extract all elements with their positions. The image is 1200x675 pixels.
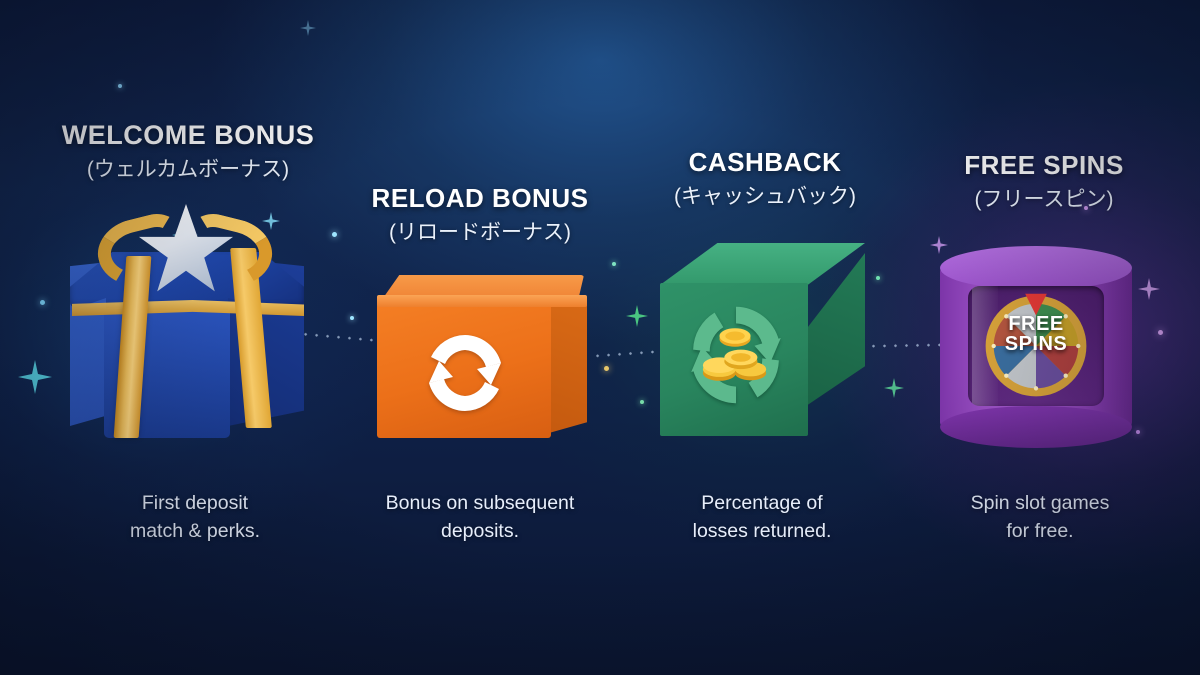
column-reload-bonus: RELOAD BONUS (リロードボーナス) — [330, 183, 630, 246]
connector-line-1-2 — [300, 332, 384, 342]
sparkle-icon — [1138, 278, 1160, 300]
sparkle-dot-icon — [604, 366, 609, 371]
reload-box-lip — [377, 295, 587, 307]
sparkle-dot-icon — [640, 400, 644, 404]
sparkle-dot-icon — [876, 276, 880, 280]
sparkle-dot-icon — [612, 262, 616, 266]
sparkle-dot-icon — [118, 84, 122, 88]
caption-welcome-bonus: First deposit match & perks. — [45, 490, 345, 545]
cylinder-top-cap — [940, 246, 1132, 290]
column-free-spins: FREE SPINS (フリースピン) — [894, 150, 1194, 213]
sparkle-dot-icon — [1136, 430, 1140, 434]
subtitle-free-spins: (フリースピン) — [894, 183, 1194, 213]
reload-box-icon — [375, 275, 590, 440]
gift-body-left — [70, 298, 106, 426]
sparkle-dot-icon — [1158, 330, 1163, 335]
cube-top — [660, 243, 865, 285]
subtitle-cashback: (キャッシュバック) — [615, 180, 915, 210]
title-free-spins: FREE SPINS — [894, 150, 1194, 181]
reload-box-side — [549, 299, 587, 433]
title-welcome-bonus: WELCOME BONUS — [38, 120, 338, 151]
sparkle-icon — [300, 20, 316, 36]
connector-line-2-3 — [592, 349, 670, 357]
cylinder-window: FREE SPINS — [968, 286, 1104, 406]
caption-free-spins: Spin slot games for free. — [890, 490, 1190, 545]
caption-reload-bonus: Bonus on subsequent deposits. — [330, 490, 630, 545]
subtitle-reload-bonus: (リロードボーナス) — [330, 216, 630, 246]
column-cashback: CASHBACK (キャッシュバック) — [615, 147, 915, 210]
sparkle-dot-icon — [350, 316, 354, 320]
subtitle-welcome-bonus: (ウェルカムボーナス) — [38, 153, 338, 183]
sparkle-icon — [626, 305, 648, 327]
fortune-wheel-cylinder-icon: FREE SPINS — [940, 246, 1132, 451]
gift-box-icon — [62, 200, 312, 445]
cashback-cube-icon — [660, 243, 865, 448]
connector-line-3-4 — [868, 343, 950, 347]
bonus-infographic: FREE SPINS WELCOME BONUS (ウェルカムボーナス) REL… — [0, 0, 1200, 675]
wheel-label: FREE SPINS — [968, 314, 1104, 354]
wheel-label-line2: SPINS — [968, 334, 1104, 354]
title-reload-bonus: RELOAD BONUS — [330, 183, 630, 214]
sparkle-icon — [18, 360, 52, 394]
wheel-label-line1: FREE — [968, 314, 1104, 334]
coins-refresh-icon — [682, 299, 790, 411]
title-cashback: CASHBACK — [615, 147, 915, 178]
cylinder-bottom-cap — [940, 406, 1132, 448]
sparkle-dot-icon — [40, 300, 45, 305]
column-welcome-bonus: WELCOME BONUS (ウェルカムボーナス) — [38, 120, 338, 183]
refresh-arrows-icon — [415, 323, 515, 423]
caption-cashback: Percentage of losses returned. — [612, 490, 912, 545]
sparkle-icon — [884, 378, 904, 398]
